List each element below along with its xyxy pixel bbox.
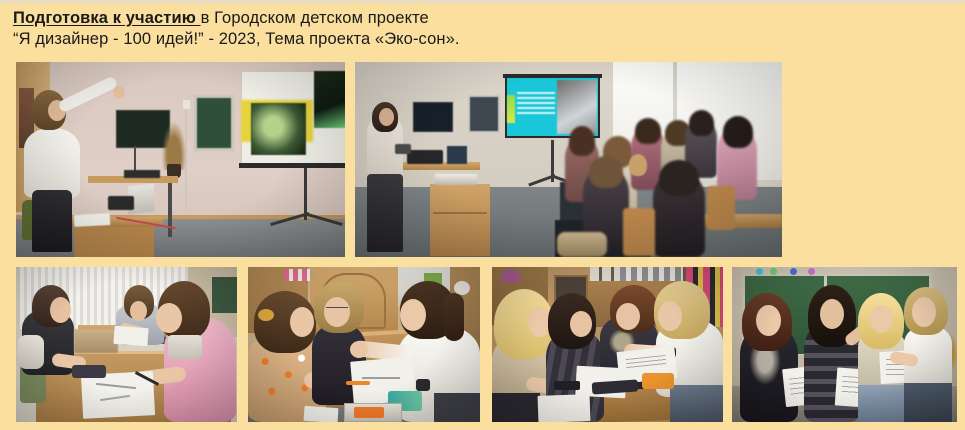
photo-group-discussion (248, 267, 480, 422)
photo-2-scene (355, 62, 782, 257)
photo-teamwork-table (492, 267, 723, 422)
photo-presenter-projector (16, 62, 345, 257)
title-line-1-rest: в Городском детском проекте (201, 9, 429, 27)
photo-1-scene (16, 62, 345, 257)
photo-5-vignette (492, 267, 723, 422)
photo-3-scene (16, 267, 237, 422)
photo-1-vignette (16, 62, 345, 257)
photo-4-vignette (248, 267, 480, 422)
page-title: Подготовка к участию в Городском детском… (13, 8, 633, 50)
title-line-1: Подготовка к участию в Городском детском… (13, 8, 633, 29)
slide-canvas: Подготовка к участию в Городском детском… (0, 0, 965, 430)
photo-3-vignette (16, 267, 237, 422)
title-emphasis: Подготовка к участию (13, 9, 201, 27)
photo-2-vignette (355, 62, 782, 257)
photo-6-scene (732, 267, 957, 422)
title-line-2: “Я дизайнер - 100 идей!” - 2023, Тема пр… (13, 29, 633, 50)
photo-students-sketching (16, 267, 237, 422)
photo-5-scene (492, 267, 723, 422)
photo-4-scene (248, 267, 480, 422)
photo-6-vignette (732, 267, 957, 422)
photo-classroom-audience (355, 62, 782, 257)
photo-presenting-sketches (732, 267, 957, 422)
